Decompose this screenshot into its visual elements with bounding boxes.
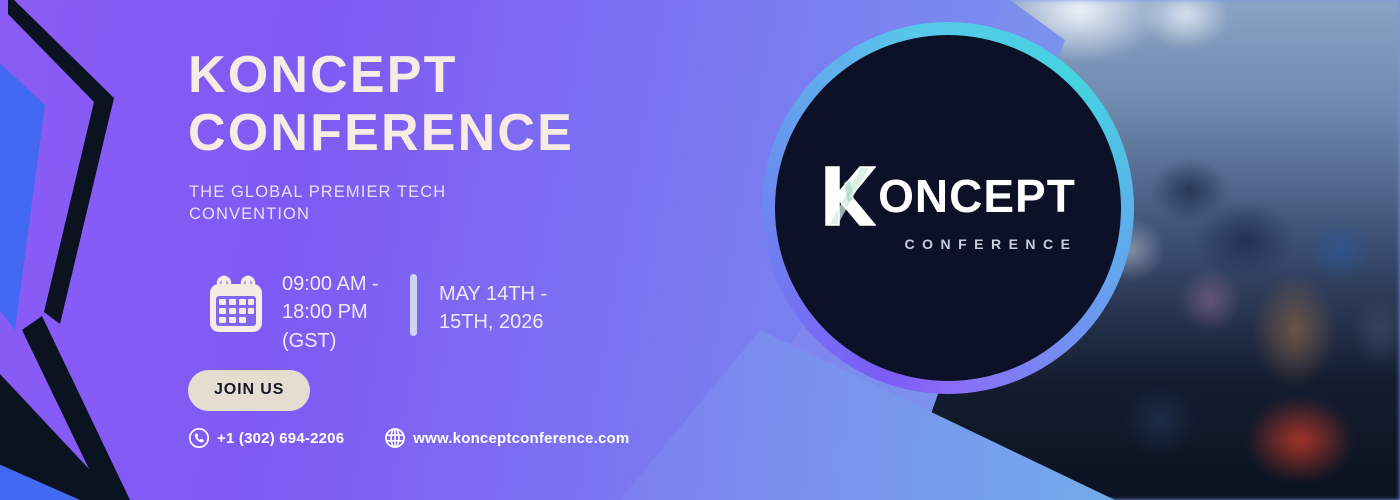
logo-tagline: CONFERENCE	[904, 236, 1077, 252]
subtitle: THE GLOBAL PREMIER TECH CONVENTION	[189, 182, 489, 226]
schedule-block: 09:00 AM - 18:00 PM (GST) MAY 14TH - 15T…	[205, 268, 569, 355]
calendar-icon	[205, 274, 267, 336]
logo-word-text: ONCEPT	[878, 173, 1076, 219]
contact-row: +1 (302) 694-2206 www.konceptconference.…	[188, 427, 629, 449]
logo-wordmark: ONCEPT	[820, 165, 1076, 227]
logo-k-mark	[820, 165, 876, 227]
page-title: KONCEPT CONFERENCE	[188, 46, 574, 162]
join-us-button[interactable]: JOIN US	[188, 370, 310, 411]
event-date: MAY 14TH - 15TH, 2026	[439, 280, 569, 337]
title-line-2: CONFERENCE	[188, 104, 574, 162]
chevron-stroke-upper	[8, 0, 130, 342]
phone-contact[interactable]: +1 (302) 694-2206	[188, 427, 344, 449]
website-contact[interactable]: www.konceptconference.com	[384, 427, 629, 449]
event-banner: ONCEPT CONFERENCE KONCEPT CONFERENCE THE…	[0, 0, 1400, 500]
logo-badge: ONCEPT CONFERENCE	[775, 35, 1121, 381]
website-url: www.konceptconference.com	[413, 430, 629, 447]
phone-icon	[188, 427, 210, 449]
globe-icon	[384, 427, 406, 449]
phone-number: +1 (302) 694-2206	[217, 430, 344, 447]
schedule-divider	[410, 274, 417, 336]
event-time: 09:00 AM - 18:00 PM (GST)	[282, 270, 392, 355]
title-line-1: KONCEPT	[188, 46, 458, 104]
